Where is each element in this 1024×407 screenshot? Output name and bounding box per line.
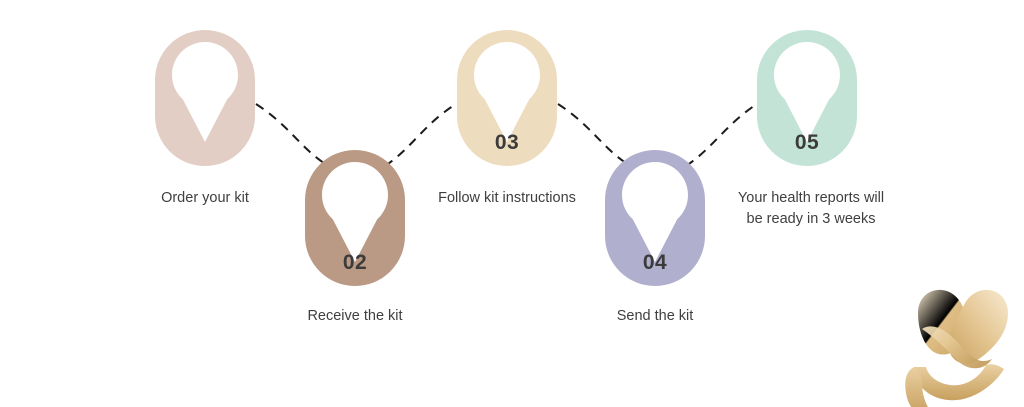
step-2[interactable]: 02: [305, 150, 405, 286]
step-3-badge[interactable]: 03: [457, 30, 557, 166]
step-3-number: 03: [457, 132, 557, 153]
step-3-label: Follow kit instructions: [413, 188, 601, 209]
step-5-badge[interactable]: 05: [757, 30, 857, 166]
step-5[interactable]: 05: [757, 30, 857, 166]
step-4-badge[interactable]: 04: [605, 150, 705, 286]
infographic-canvas: Order your kit02Receive the kit03Follow …: [0, 0, 1024, 407]
step-4-label: Send the kit: [571, 306, 739, 327]
step-5-label: Your health reports will be ready in 3 w…: [712, 188, 910, 230]
step-5-number: 05: [757, 132, 857, 153]
heart-ribbon-logo-icon: [888, 275, 1024, 407]
step-2-number: 02: [305, 252, 405, 273]
step-2-badge[interactable]: 02: [305, 150, 405, 286]
step-1-map-pin-icon: [155, 30, 255, 166]
step-1[interactable]: [155, 30, 255, 166]
step-4-number: 04: [605, 252, 705, 273]
step-1-label: Order your kit: [121, 188, 289, 209]
step-4[interactable]: 04: [605, 150, 705, 286]
step-2-label: Receive the kit: [271, 306, 439, 327]
step-3[interactable]: 03: [457, 30, 557, 166]
step-1-badge[interactable]: [155, 30, 255, 166]
